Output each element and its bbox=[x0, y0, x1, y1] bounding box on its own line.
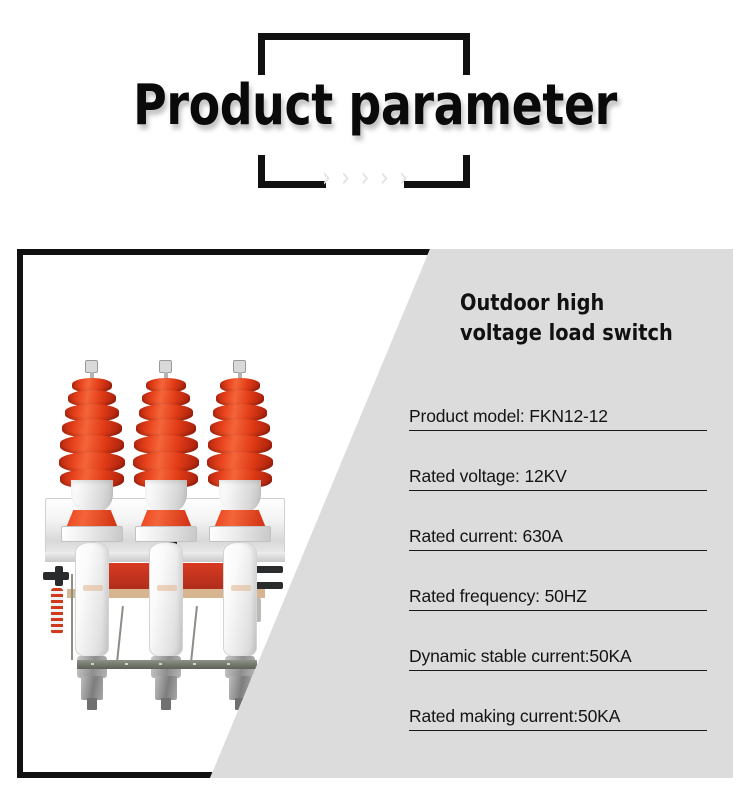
product-heading-line2: voltage load switch bbox=[460, 319, 698, 349]
pull-rod bbox=[116, 606, 124, 662]
mounting-rail bbox=[77, 660, 257, 669]
product-heading-line1: Outdoor high bbox=[460, 289, 698, 319]
banner-bracket-top bbox=[258, 33, 470, 75]
spec-underline bbox=[409, 670, 707, 671]
product-card: Outdoor high voltage load switch Product… bbox=[17, 249, 733, 778]
spec-label: Rated voltage: 12KV bbox=[409, 466, 567, 487]
pull-rod bbox=[190, 606, 198, 662]
fuse-tube bbox=[75, 542, 109, 658]
aux-linkage-block bbox=[55, 566, 63, 586]
spec-underline bbox=[409, 610, 707, 611]
spec-underline bbox=[409, 550, 707, 551]
chevron-right-icon: › bbox=[361, 165, 370, 193]
insulator-flange-base bbox=[209, 526, 271, 542]
insulator-flange-base bbox=[61, 526, 123, 542]
chevron-right-icon-group: › › › › › bbox=[322, 167, 408, 191]
fuse-clamp-lower bbox=[81, 676, 103, 700]
insulator-fins bbox=[207, 378, 273, 488]
fuse-tube bbox=[223, 542, 257, 658]
spec-row: Rated frequency: 50HZ bbox=[409, 556, 721, 616]
product-heading: Outdoor high voltage load switch bbox=[460, 289, 698, 349]
right-contact-block bbox=[255, 566, 283, 573]
spec-content: Outdoor high voltage load switch Product… bbox=[392, 249, 733, 778]
chevron-right-icon: › bbox=[380, 165, 389, 193]
fuse-clamp-lower bbox=[155, 676, 177, 700]
spec-label: Dynamic stable current:50KA bbox=[409, 646, 632, 667]
spec-label: Rated frequency: 50HZ bbox=[409, 586, 587, 607]
spec-label: Product model: FKN12-12 bbox=[409, 406, 608, 427]
insulator-flange-base bbox=[135, 526, 197, 542]
page-title: Product parameter bbox=[68, 78, 683, 134]
fuse-tube bbox=[149, 542, 183, 658]
spec-label: Rated making current:50KA bbox=[409, 706, 620, 727]
spec-row: Rated current: 630A bbox=[409, 496, 721, 556]
right-contact-block bbox=[255, 582, 283, 589]
insulator-fins bbox=[59, 378, 125, 488]
chevron-right-icon: › bbox=[341, 165, 350, 193]
spec-row: Rated making current:50KA bbox=[409, 676, 721, 736]
spec-row: Rated voltage: 12KV bbox=[409, 436, 721, 496]
aux-spring bbox=[51, 588, 63, 634]
banner-bracket-bottom-left bbox=[258, 155, 326, 188]
fuse-tip bbox=[87, 698, 97, 710]
spec-underline bbox=[409, 490, 707, 491]
spec-row: Dynamic stable current:50KA bbox=[409, 616, 721, 676]
spec-list: Product model: FKN12-12 Rated voltage: 1… bbox=[409, 376, 721, 736]
spec-underline bbox=[409, 430, 707, 431]
banner-bracket-bottom-right bbox=[404, 155, 470, 188]
spec-label: Rated current: 630A bbox=[409, 526, 563, 547]
fuse-tip bbox=[161, 698, 171, 710]
spec-underline bbox=[409, 730, 707, 731]
page-banner: Product parameter › › › › › bbox=[0, 0, 750, 232]
insulator-fins bbox=[133, 378, 199, 488]
aux-arm bbox=[71, 574, 73, 660]
chevron-right-icon: › bbox=[322, 165, 331, 193]
spec-row: Product model: FKN12-12 bbox=[409, 376, 721, 436]
